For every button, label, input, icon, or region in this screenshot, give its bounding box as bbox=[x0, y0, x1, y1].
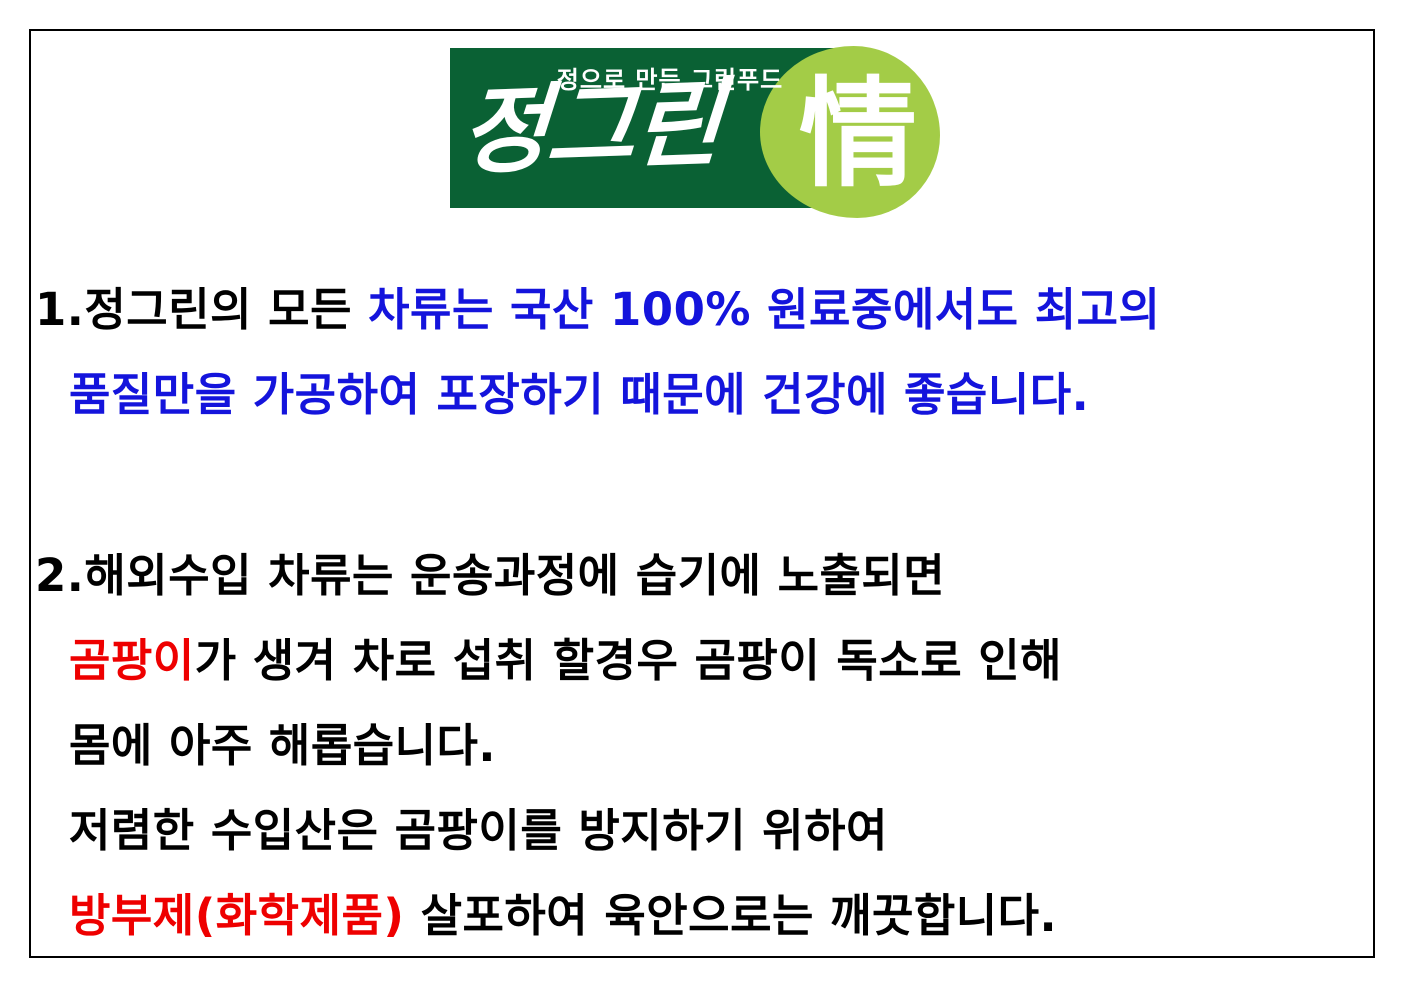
item1-line-1: 1.정그린의 모든 차류는 국산 100% 원료중에서도 최고의 bbox=[35, 267, 1367, 352]
logo-wordmark: 정그린 bbox=[457, 69, 831, 183]
item2-line5-black-text: 살포하여 육안으로는 깨끗합니다. bbox=[404, 889, 1057, 942]
body-copy: 1.정그린의 모든 차류는 국산 100% 원료중에서도 최고의 품질만을 가공… bbox=[31, 267, 1373, 958]
item2-line2-black-text: 가 생겨 차로 섭취 할경우 곰팡이 독소로 인해 bbox=[195, 634, 1062, 687]
item2-line4-black-text: 저렴한 수입산은 곰팡이를 방지하기 위하여 bbox=[69, 804, 888, 857]
logo-seal-character: 情 bbox=[798, 66, 918, 202]
paragraph-item-2: 2.해외수입 차류는 운송과정에 습기에 노출되면 곰팡이가 생겨 차로 섭취 … bbox=[31, 533, 1373, 958]
item2-line-5: 방부제(화학제품) 살포하여 육안으로는 깨끗합니다. bbox=[35, 873, 1367, 958]
document-page: 정으로 만든 그린푸드 정그린 情 1.정그린의 모든 차류는 국산 100% … bbox=[0, 0, 1403, 992]
item1-line1-black-text: 1.정그린의 모든 bbox=[35, 283, 368, 336]
item2-line-4: 저렴한 수입산은 곰팡이를 방지하기 위하여 bbox=[35, 788, 1367, 873]
item1-line2-blue-text: 품질만을 가공하여 포장하기 때문에 건강에 좋습니다. bbox=[69, 368, 1089, 421]
jeonggreen-logo: 정으로 만든 그린푸드 정그린 情 bbox=[450, 48, 940, 223]
item1-line1-blue-text: 차류는 국산 100% 원료중에서도 최고의 bbox=[368, 283, 1160, 336]
item2-line2-red-text: 곰팡이 bbox=[69, 634, 195, 687]
item1-line-2: 품질만을 가공하여 포장하기 때문에 건강에 좋습니다. bbox=[35, 352, 1367, 437]
item2-line3-black-text: 몸에 아주 해롭습니다. bbox=[69, 719, 496, 772]
item2-line-3: 몸에 아주 해롭습니다. bbox=[35, 703, 1367, 788]
item2-line1-black-text: 2.해외수입 차류는 운송과정에 습기에 노출되면 bbox=[35, 549, 945, 602]
paragraph-spacer bbox=[31, 437, 1373, 533]
item2-line5-red-text: 방부제(화학제품) bbox=[69, 889, 404, 942]
paragraph-item-1: 1.정그린의 모든 차류는 국산 100% 원료중에서도 최고의 품질만을 가공… bbox=[31, 267, 1373, 437]
page-border-frame: 정으로 만든 그린푸드 정그린 情 1.정그린의 모든 차류는 국산 100% … bbox=[29, 29, 1375, 958]
item2-line-1: 2.해외수입 차류는 운송과정에 습기에 노출되면 bbox=[35, 533, 1367, 618]
item2-line-2: 곰팡이가 생겨 차로 섭취 할경우 곰팡이 독소로 인해 bbox=[35, 618, 1367, 703]
